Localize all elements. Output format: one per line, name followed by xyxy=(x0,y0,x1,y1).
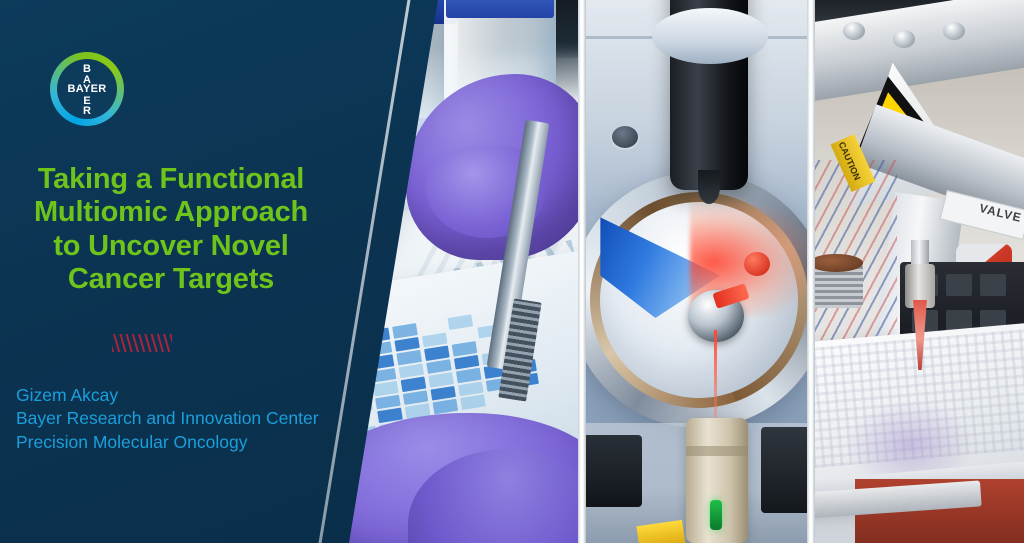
bayer-logo: B A Y E R BAYER xyxy=(50,52,124,126)
byline: Gizem Akcay Bayer Research and Innovatio… xyxy=(16,384,416,454)
title-slide: 2O A · · · · · xyxy=(0,0,1024,543)
title-content: B A Y E R BAYER Taking a Functional Mult… xyxy=(0,0,460,543)
decorative-hatch-divider xyxy=(112,334,172,352)
department-name: Precision Molecular Oncology xyxy=(16,431,416,454)
title-line-4: Cancer Targets xyxy=(0,263,342,296)
organization-name: Bayer Research and Innovation Center xyxy=(16,407,416,430)
bayer-logo-wordmark: BAYER xyxy=(67,83,108,95)
panel-divider-2 xyxy=(807,0,815,543)
logo-letter-r: R xyxy=(83,106,91,117)
title-line-2: Multiomic Approach xyxy=(0,196,342,229)
presenter-name: Gizem Akcay xyxy=(16,384,416,407)
page-title: Taking a Functional Multiomic Approach t… xyxy=(0,163,342,296)
logo-letter-b: B xyxy=(83,64,91,75)
photo-panel-pipettor: ☼ CAUTION VALVE xyxy=(815,0,1024,543)
photo-panel-laser-chamber xyxy=(586,0,807,543)
title-line-1: Taking a Functional xyxy=(0,163,342,196)
panel-divider-1 xyxy=(578,0,586,543)
title-line-3: to Uncover Novel xyxy=(0,230,342,263)
